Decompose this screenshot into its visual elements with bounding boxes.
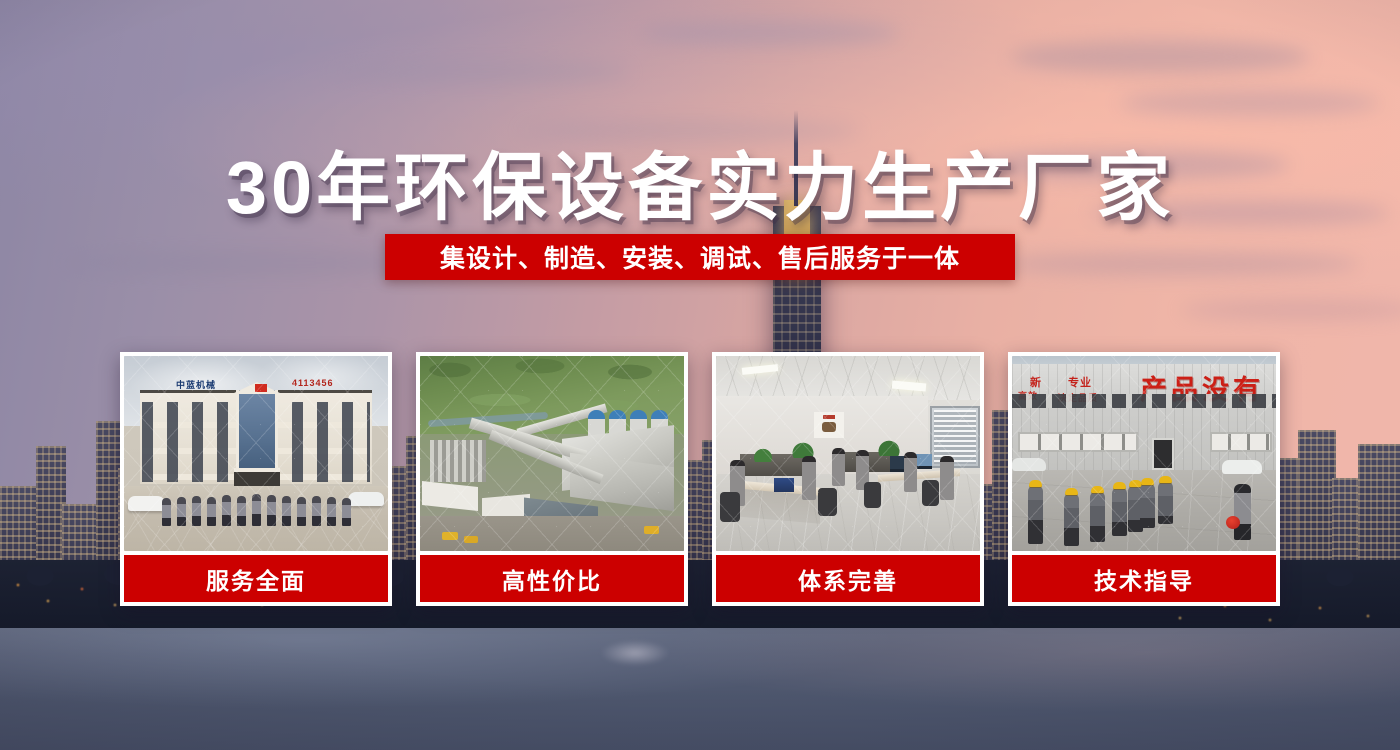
excavator bbox=[442, 532, 458, 540]
card-label-text: 技术指导 bbox=[1094, 562, 1194, 596]
card-label-text: 高性价比 bbox=[502, 562, 602, 596]
office-chair bbox=[720, 492, 740, 522]
feature-card[interactable]: 体系完善 bbox=[712, 352, 984, 606]
car bbox=[1222, 460, 1262, 474]
promotional-banner: 30年环保设备实力生产厂家 集设计、制造、安装、调试、售后服务于一体 中蓝机械 … bbox=[0, 0, 1400, 750]
worker bbox=[1112, 488, 1127, 536]
headline-title: 30年环保设备实力生产厂家 bbox=[0, 128, 1400, 235]
card-label-bar: 服务全面 bbox=[124, 555, 388, 602]
car bbox=[1012, 458, 1046, 471]
car bbox=[128, 496, 166, 511]
staff-lineup bbox=[162, 484, 354, 526]
potted-plant bbox=[752, 448, 774, 462]
worker bbox=[1158, 482, 1173, 524]
card-photo-company-building: 中蓝机械 4113456 bbox=[124, 356, 388, 551]
hard-hat-icon bbox=[1029, 480, 1042, 487]
hard-hat-icon bbox=[1141, 478, 1154, 485]
office-chair bbox=[818, 488, 837, 516]
building-sign-text: 中蓝机械 bbox=[176, 378, 216, 391]
worker bbox=[1140, 484, 1155, 528]
worker bbox=[1064, 494, 1079, 546]
supervisor bbox=[1234, 484, 1251, 540]
feature-card-row: 中蓝机械 4113456 bbox=[120, 352, 1280, 606]
hard-hat-icon bbox=[1065, 488, 1078, 495]
office-worker bbox=[832, 448, 845, 486]
wall-poster bbox=[814, 412, 844, 438]
office-worker bbox=[904, 452, 917, 492]
office-chair bbox=[864, 482, 881, 508]
excavator bbox=[464, 536, 478, 543]
hard-hat-icon bbox=[1113, 482, 1126, 489]
card-photo-office bbox=[716, 356, 980, 551]
flag bbox=[255, 384, 267, 392]
card-label-bar: 高性价比 bbox=[420, 555, 684, 602]
factory-slogan-small: 新 bbox=[1030, 374, 1042, 390]
red-helmet-icon bbox=[1226, 516, 1240, 529]
banner-content: 30年环保设备实力生产厂家 集设计、制造、安装、调试、售后服务于一体 中蓝机械 … bbox=[0, 0, 1400, 750]
worker bbox=[1028, 486, 1043, 544]
subtitle-banner: 集设计、制造、安装、调试、售后服务于一体 bbox=[385, 234, 1015, 280]
subtitle-text: 集设计、制造、安装、调试、售后服务于一体 bbox=[440, 239, 960, 275]
office-chair bbox=[922, 480, 939, 506]
office-worker bbox=[940, 456, 954, 500]
laptop bbox=[774, 478, 794, 492]
window-blinds bbox=[930, 406, 980, 468]
building-phone-text: 4113456 bbox=[292, 378, 334, 388]
feature-card[interactable]: 中蓝机械 4113456 bbox=[120, 352, 392, 606]
hard-hat-icon bbox=[1159, 476, 1172, 483]
card-label-text: 体系完善 bbox=[798, 562, 898, 596]
feature-card[interactable]: 高性价比 bbox=[416, 352, 688, 606]
card-label-bar: 技术指导 bbox=[1012, 555, 1276, 602]
card-label-text: 服务全面 bbox=[206, 562, 306, 596]
card-label-bar: 体系完善 bbox=[716, 555, 980, 602]
office-worker bbox=[802, 456, 816, 500]
potted-plant bbox=[876, 440, 902, 456]
worker bbox=[1090, 492, 1105, 542]
hard-hat-icon bbox=[1091, 486, 1104, 493]
factory-door bbox=[1152, 438, 1174, 470]
factory-slogan-small: 专业 bbox=[1068, 374, 1092, 390]
excavator bbox=[644, 526, 659, 534]
card-photo-workers: 产品没有 新 专业 高效 决定品质 bbox=[1012, 356, 1276, 551]
card-photo-industrial-plant bbox=[420, 356, 684, 551]
feature-card[interactable]: 产品没有 新 专业 高效 决定品质 bbox=[1008, 352, 1280, 606]
